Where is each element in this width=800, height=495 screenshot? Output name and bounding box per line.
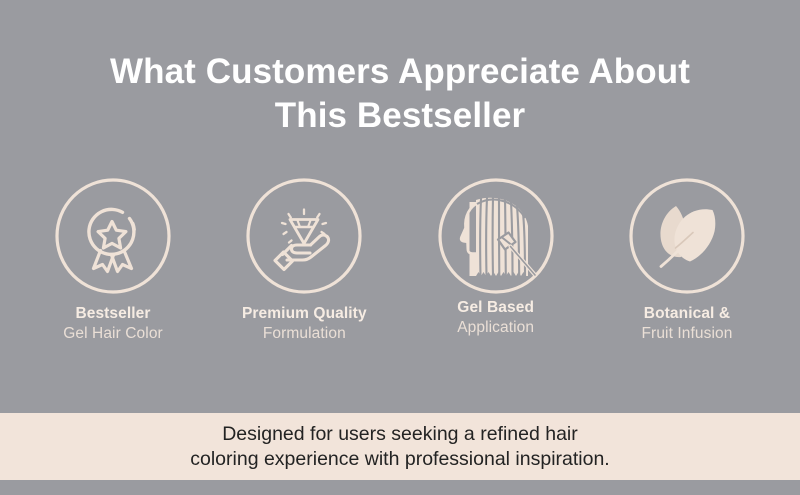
caption-line-2: coloring experience with professional in… [190, 447, 609, 472]
page-title-line-1: What Customers Appreciate About [0, 50, 800, 94]
feature-labels: Gel Based Application [457, 298, 534, 338]
hair-coloring-brush-icon [436, 176, 556, 296]
feature-list: Bestseller Gel Hair Color [0, 176, 800, 356]
feature-label-primary: Bestseller [63, 304, 163, 324]
infographic-canvas: What Customers Appreciate About This Bes… [0, 0, 800, 495]
feature-item-botanical-fruit-infusion: Botanical & Fruit Infusion [596, 176, 778, 344]
feature-labels: Bestseller Gel Hair Color [63, 304, 163, 344]
feature-label-primary: Gel Based [457, 298, 534, 318]
feature-item-bestseller: Bestseller Gel Hair Color [22, 176, 204, 344]
feature-label-secondary: Application [457, 318, 534, 338]
page-title-line-2: This Bestseller [0, 94, 800, 138]
caption-band: Designed for users seeking a refined hai… [0, 413, 800, 480]
feature-labels: Botanical & Fruit Infusion [641, 304, 732, 344]
page-title: What Customers Appreciate About This Bes… [0, 50, 800, 138]
caption-line-1: Designed for users seeking a refined hai… [190, 422, 609, 447]
leaves-icon [627, 176, 747, 296]
feature-label-primary: Botanical & [641, 304, 732, 324]
feature-label-secondary: Fruit Infusion [641, 324, 732, 344]
feature-label-secondary: Gel Hair Color [63, 324, 163, 344]
award-ribbon-star-icon [53, 176, 173, 296]
feature-label-secondary: Formulation [242, 324, 367, 344]
feature-labels: Premium Quality Formulation [242, 304, 367, 344]
hand-holding-diamond-icon [244, 176, 364, 296]
caption-text: Designed for users seeking a refined hai… [190, 422, 609, 472]
feature-label-primary: Premium Quality [242, 304, 367, 324]
feature-item-gel-based-application: Gel Based Application [405, 176, 587, 338]
feature-item-premium-quality: Premium Quality Formulation [213, 176, 395, 344]
